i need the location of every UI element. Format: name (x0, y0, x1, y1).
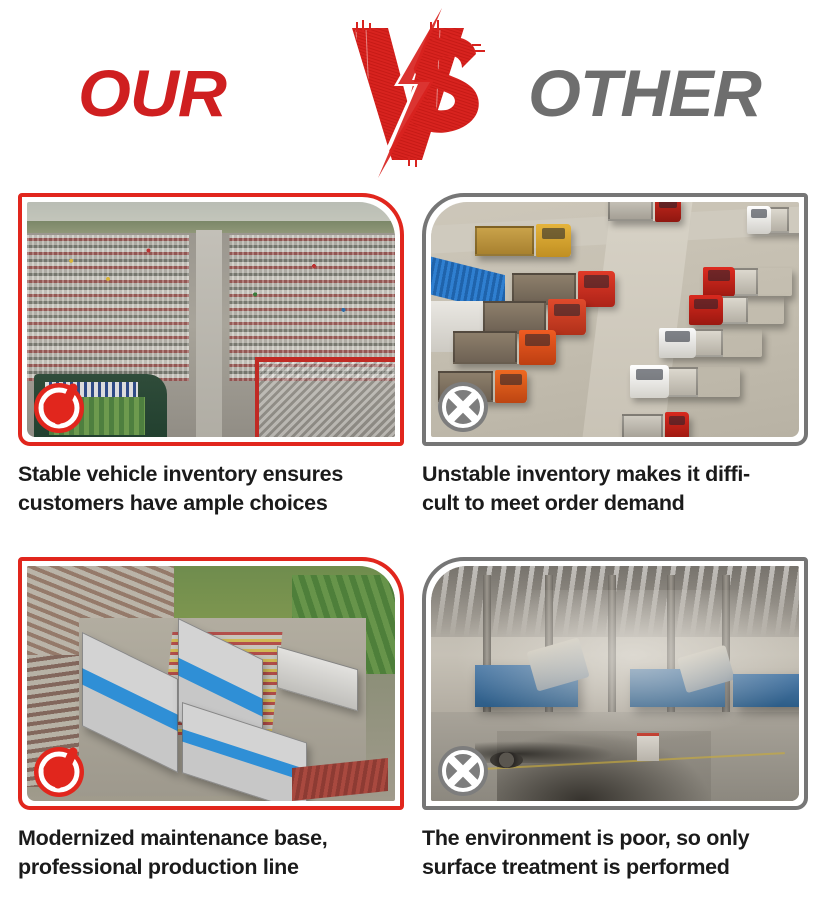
caption-line: professional production line (18, 853, 390, 882)
caption-line: Unstable inventory makes it diffi- (422, 460, 794, 489)
cross-circle-icon (436, 380, 490, 434)
caption-line: surface treatment is performed (422, 853, 794, 882)
comparison-infographic: OUR (0, 0, 820, 910)
check-circle-icon (32, 380, 86, 434)
caption-line: cult to meet order demand (422, 489, 794, 518)
caption-ours-2: Modernized maintenance base, professiona… (18, 824, 390, 882)
vs-logo-icon (322, 8, 512, 178)
caption-line: Modernized maintenance base, (18, 824, 390, 853)
comparison-grid: Stable vehicle inventory ensures custome… (0, 185, 820, 910)
caption-line: Stable vehicle inventory ensures (18, 460, 390, 489)
comparison-cell-ours-2: Modernized maintenance base, professiona… (18, 557, 404, 882)
image-frame-ours (18, 193, 404, 446)
image-frame-ours (18, 557, 404, 810)
image-frame-other (422, 557, 808, 810)
image-frame-other (422, 193, 808, 446)
cross-circle-icon (436, 744, 490, 798)
caption-line: customers have ample choices (18, 489, 390, 518)
comparison-cell-ours-1: Stable vehicle inventory ensures custome… (18, 193, 404, 518)
header: OUR (0, 0, 820, 185)
other-title: OTHER (528, 60, 761, 126)
caption-line: The environment is poor, so only (422, 824, 794, 853)
check-circle-icon (32, 744, 86, 798)
our-title: OUR (78, 60, 226, 126)
caption-other-1: Unstable inventory makes it diffi- cult … (422, 460, 794, 518)
comparison-cell-other-2: The environment is poor, so only surface… (422, 557, 808, 882)
comparison-cell-other-1: Unstable inventory makes it diffi- cult … (422, 193, 808, 518)
caption-other-2: The environment is poor, so only surface… (422, 824, 794, 882)
caption-ours-1: Stable vehicle inventory ensures custome… (18, 460, 390, 518)
